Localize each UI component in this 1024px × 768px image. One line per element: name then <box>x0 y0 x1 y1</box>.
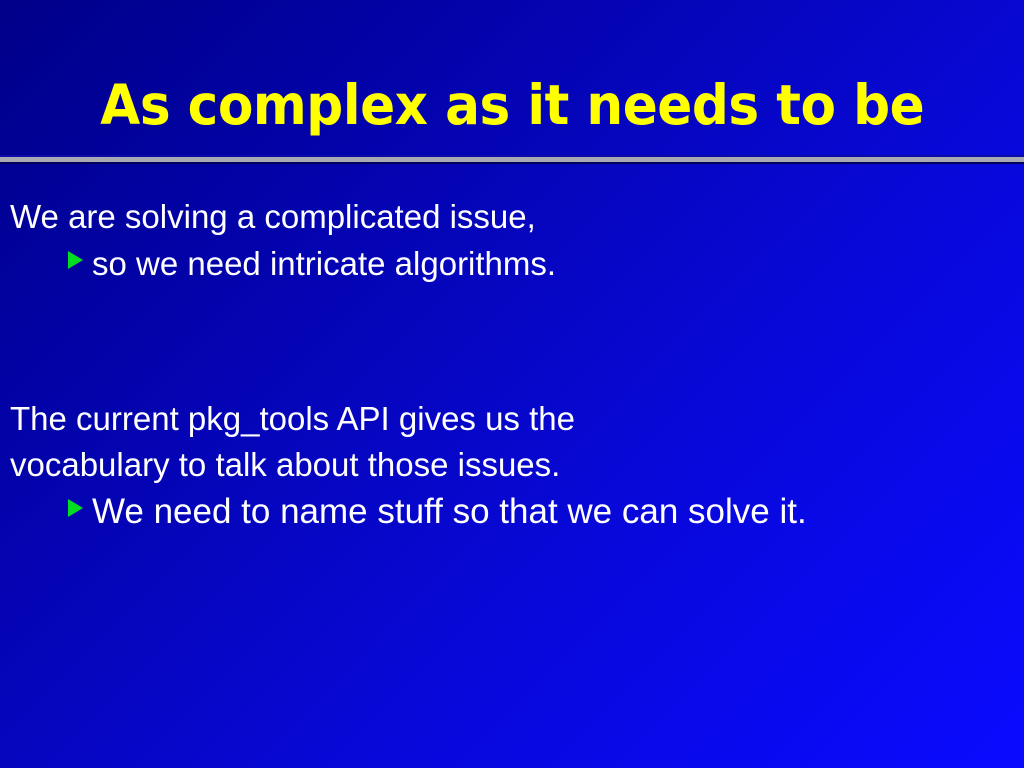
bullet-item-2-label: We need to name stuff so that we can sol… <box>92 488 807 536</box>
slide-title-area: As complex as it needs to be <box>0 74 1024 136</box>
presentation-slide: As complex as it needs to be We are solv… <box>0 0 1024 768</box>
body-paragraph-2-line-2: vocabulary to talk about those issues. <box>0 442 1024 488</box>
body-paragraph-2-line-1: The current pkg_tools API gives us the <box>0 396 1024 442</box>
body-spacer <box>0 288 1024 396</box>
bullet-item-1-label: so we need intricate algorithms. <box>92 240 556 288</box>
divider-dark-rule <box>0 162 1024 164</box>
slide-body: We are solving a complicated issue, so w… <box>0 194 1024 536</box>
body-paragraph-1-line-1: We are solving a complicated issue, <box>0 194 1024 240</box>
triangle-right-icon <box>68 499 83 517</box>
bullet-item-1: so we need intricate algorithms. <box>0 240 1024 288</box>
title-divider <box>0 155 1024 164</box>
page-title: As complex as it needs to be <box>100 74 924 136</box>
triangle-right-icon <box>68 251 83 269</box>
bullet-item-2: We need to name stuff so that we can sol… <box>0 488 1024 536</box>
